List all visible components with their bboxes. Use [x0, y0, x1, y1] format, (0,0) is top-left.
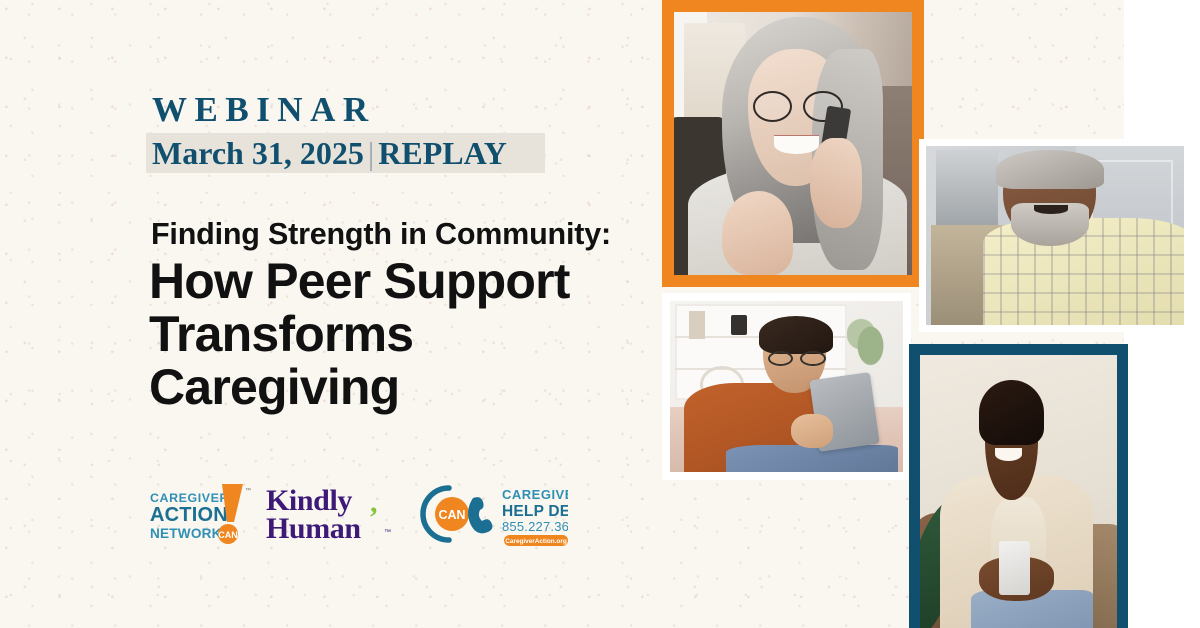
- help-desk-phone: 855.227.3640: [502, 519, 568, 534]
- can-line2: ACTION: [150, 504, 228, 526]
- photo-woman-with-smartphone-image: [920, 355, 1117, 628]
- eyebrow-webinar: WEBINAR: [152, 92, 376, 127]
- photo-man-with-tablet-image: [670, 301, 903, 472]
- help-desk-line2: HELP DESK: [502, 503, 568, 520]
- kindly-human-trademark: ™: [384, 529, 391, 536]
- can-logo-svg: CAREGIVER ACTION NETWORK CAN ™: [148, 482, 252, 544]
- replay-label: REPLAY: [378, 135, 507, 171]
- title-line-1: How Peer Support: [149, 255, 570, 308]
- help-desk-logo-svg: CAN CAREGIVER HELP DESK 855.227.3640 Car…: [416, 482, 568, 546]
- kindly-human-logo: Kindly , Human ™: [266, 482, 398, 549]
- help-desk-line1: CAREGIVER: [502, 487, 568, 502]
- can-badge: CAN: [218, 530, 238, 540]
- title-line-3: Caregiving: [149, 361, 570, 414]
- caregiver-action-network-logo: CAREGIVER ACTION NETWORK CAN ™: [148, 482, 252, 549]
- help-desk-url: CaregiverAction.org: [505, 538, 567, 545]
- photo-man-with-tablet: [662, 293, 911, 480]
- text-column: WEBINAR March 31, 2025|REPLAY Finding St…: [0, 0, 660, 628]
- kindly-human-logo-svg: Kindly , Human ™: [266, 482, 398, 544]
- caregiver-help-desk-logo: CAN CAREGIVER HELP DESK 855.227.3640 Car…: [416, 482, 568, 551]
- webinar-promo-graphic: WEBINAR March 31, 2025|REPLAY Finding St…: [0, 0, 1200, 628]
- title-line-2: Transforms: [149, 308, 570, 361]
- title-subheading: Finding Strength in Community:: [151, 219, 611, 250]
- can-line3: NETWORK: [150, 526, 222, 541]
- can-trademark: ™: [245, 487, 251, 494]
- webinar-date: March 31, 2025: [152, 135, 364, 171]
- photo-older-man-plaid: [919, 139, 1191, 332]
- photo-woman-on-phone-image: [674, 12, 912, 275]
- logo-row: CAREGIVER ACTION NETWORK CAN ™ Kindly , …: [148, 482, 588, 552]
- date-separator: |: [364, 135, 378, 171]
- can-line1: CAREGIVER: [150, 491, 229, 505]
- photo-woman-on-phone: [662, 0, 924, 287]
- photo-woman-with-smartphone: [909, 344, 1128, 628]
- help-desk-badge: CAN: [438, 508, 465, 522]
- human-word: Human: [266, 512, 361, 544]
- title-heading: How Peer Support Transforms Caregiving: [149, 255, 570, 414]
- phone-handset-icon: [468, 497, 492, 533]
- photo-older-man-plaid-image: [926, 146, 1184, 325]
- date-replay-line: March 31, 2025|REPLAY: [152, 136, 507, 170]
- kindly-comma: ,: [370, 486, 378, 519]
